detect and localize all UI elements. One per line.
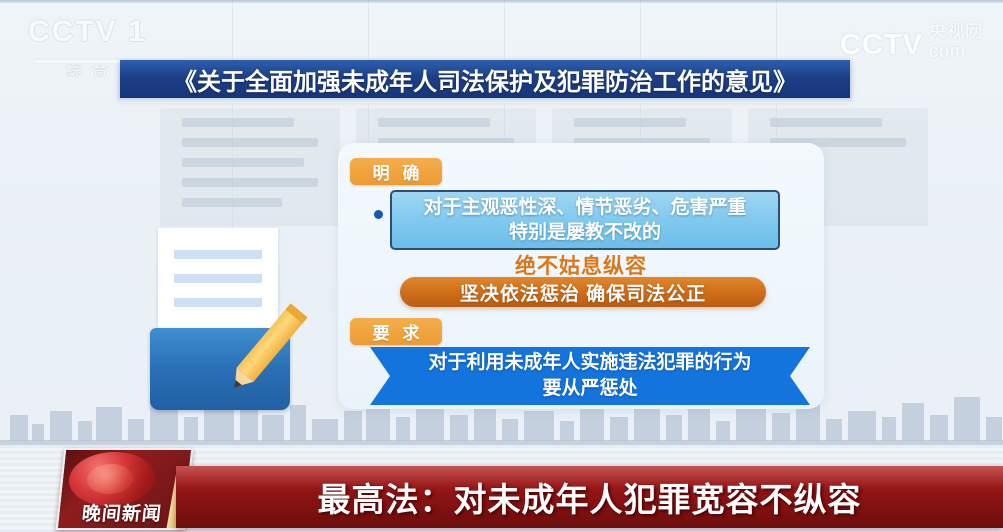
conclusion-pill-label: 坚决依法惩治 确保司法公正 — [460, 279, 706, 306]
paper-icon — [158, 228, 278, 336]
ribbon-line-2: 要从严惩处 — [542, 376, 637, 402]
watermark-domain: com — [929, 42, 983, 60]
document-illustration — [150, 228, 340, 413]
document-title-banner: 《关于全面加强未成年人司法保护及犯罪防治工作的意见》 — [120, 60, 850, 98]
emphasis-text: 绝不姑息纵容 — [338, 250, 824, 280]
cctv-logo-number: 1 — [128, 15, 147, 48]
highlight-box-line-1: 对于主观恶性深、情节恶劣、危害严重 — [423, 195, 746, 220]
bullet-point — [374, 210, 383, 219]
section-tag-label-2: 要 求 — [369, 319, 424, 344]
document-title-text: 《关于全面加强未成年人司法保护及犯罪防治工作的意见》 — [173, 62, 797, 97]
cctv-com-watermark: CCTV 央视网 com — [840, 14, 983, 60]
ribbon-line-1: 对于利用未成年人实施违法犯罪的行为 — [428, 350, 751, 376]
watermark-cn-label: 央视网 — [929, 23, 983, 40]
news-headline-text: 最高法：对未成年人犯罪宽容不纵容 — [176, 466, 1003, 528]
globe-icon — [66, 452, 158, 506]
requirement-ribbon: 对于利用未成年人实施违法犯罪的行为 要从严惩处 — [370, 347, 810, 405]
highlight-box-blue: 对于主观恶性深、情节恶劣、危害严重 特别是屡教不改的 — [390, 190, 780, 250]
conclusion-pill: 坚决依法惩治 确保司法公正 — [400, 277, 766, 307]
cctv-logo-text: CCTV — [28, 15, 118, 48]
section-tag-label-1: 明 确 — [369, 159, 424, 184]
section-tag-ming-que: 明 确 — [350, 158, 442, 185]
highlight-box-line-2: 特别是屡教不改的 — [509, 220, 661, 245]
broadcast-screen: CCTV 1 综合 CCTV 央视网 com 《关于全面加强未成年人司法保护及犯… — [0, 0, 1003, 532]
title-banner-underline — [120, 98, 850, 103]
news-ticker: 最高法：对未成年人犯罪宽容不纵容 — [176, 466, 1003, 528]
watermark-brand: CCTV — [840, 30, 923, 60]
section-tag-yao-qiu: 要 求 — [350, 318, 442, 345]
